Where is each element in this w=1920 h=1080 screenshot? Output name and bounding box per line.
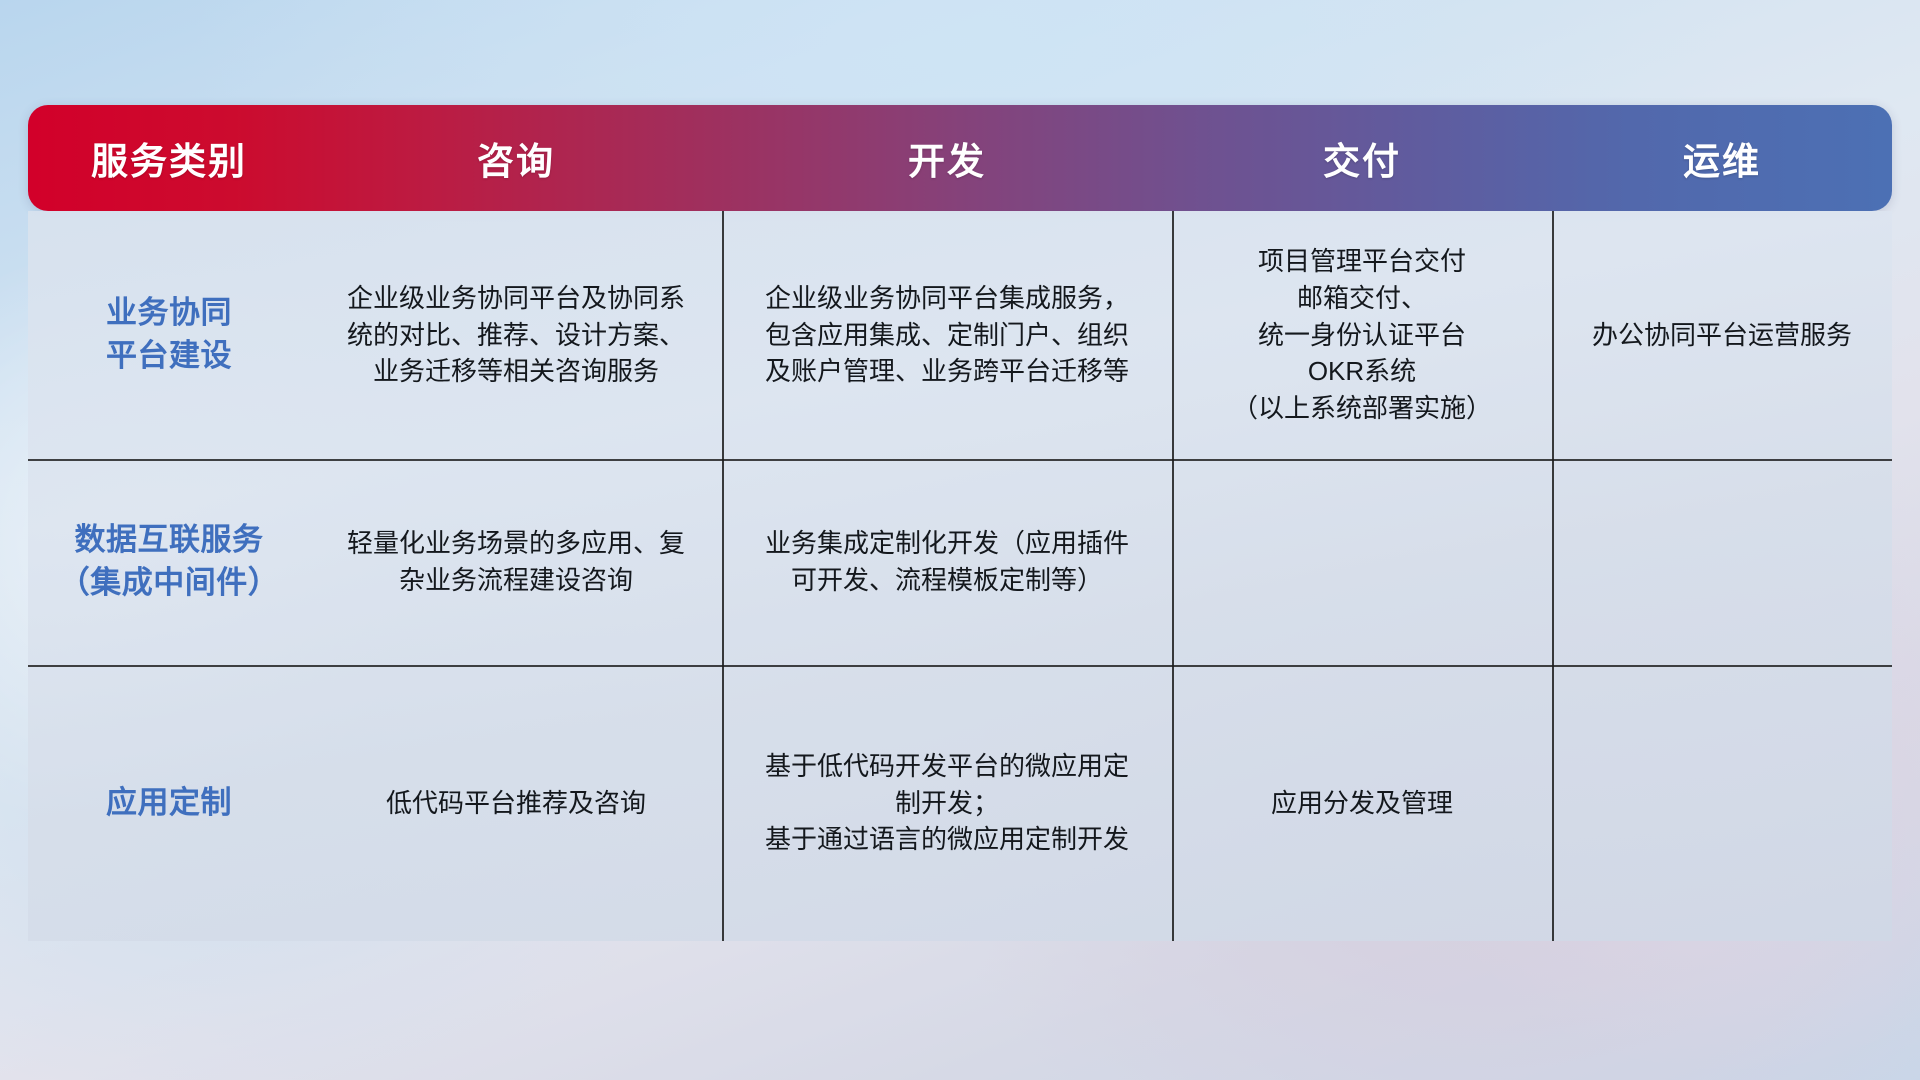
cell-development: 基于低代码开发平台的微应用定 制开发； 基于通过语言的微应用定制开发 bbox=[722, 665, 1172, 941]
table-row: 应用定制 低代码平台推荐及咨询 基于低代码开发平台的微应用定 制开发； 基于通过… bbox=[28, 665, 1892, 941]
column-header-operations: 运维 bbox=[1552, 131, 1892, 185]
table-body: 业务协同 平台建设 企业级业务协同平台及协同系 统的对比、推荐、设计方案、 业务… bbox=[28, 211, 1892, 941]
cell-operations bbox=[1552, 665, 1892, 941]
cell-delivery: 应用分发及管理 bbox=[1172, 665, 1552, 941]
column-divider-development-delivery bbox=[1172, 211, 1174, 941]
cell-operations: 办公协同平台运营服务 bbox=[1552, 211, 1892, 459]
cell-operations bbox=[1552, 459, 1892, 665]
row-category-label: 应用定制 bbox=[28, 665, 310, 941]
cell-delivery bbox=[1172, 459, 1552, 665]
row-category-label: 业务协同 平台建设 bbox=[28, 211, 310, 459]
column-header-category: 服务类别 bbox=[28, 131, 310, 185]
row-category-label: 数据互联服务 （集成中间件） bbox=[28, 459, 310, 665]
column-header-development: 开发 bbox=[722, 131, 1172, 185]
cell-development: 业务集成定制化开发（应用插件 可开发、流程模板定制等） bbox=[722, 459, 1172, 665]
table-header-row: 服务类别 咨询 开发 交付 运维 bbox=[28, 105, 1892, 211]
cell-delivery: 项目管理平台交付 邮箱交付、 统一身份认证平台 OKR系统 （以上系统部署实施） bbox=[1172, 211, 1552, 459]
column-divider-delivery-operations bbox=[1552, 211, 1554, 941]
row-separator bbox=[28, 665, 1892, 667]
service-matrix-table: 服务类别 咨询 开发 交付 运维 业务协同 平台建设 企业级业务协同平台及协同系… bbox=[28, 105, 1892, 945]
column-divider-consulting-development bbox=[722, 211, 724, 941]
row-separator bbox=[28, 459, 1892, 461]
cell-development: 企业级业务协同平台集成服务， 包含应用集成、定制门户、组织 及账户管理、业务跨平… bbox=[722, 211, 1172, 459]
cell-consulting: 企业级业务协同平台及协同系 统的对比、推荐、设计方案、 业务迁移等相关咨询服务 bbox=[310, 211, 722, 459]
column-header-delivery: 交付 bbox=[1172, 131, 1552, 185]
column-header-consulting: 咨询 bbox=[310, 131, 722, 185]
table-row: 数据互联服务 （集成中间件） 轻量化业务场景的多应用、复 杂业务流程建设咨询 业… bbox=[28, 459, 1892, 665]
cell-consulting: 低代码平台推荐及咨询 bbox=[310, 665, 722, 941]
cell-consulting: 轻量化业务场景的多应用、复 杂业务流程建设咨询 bbox=[310, 459, 722, 665]
table-row: 业务协同 平台建设 企业级业务协同平台及协同系 统的对比、推荐、设计方案、 业务… bbox=[28, 211, 1892, 459]
